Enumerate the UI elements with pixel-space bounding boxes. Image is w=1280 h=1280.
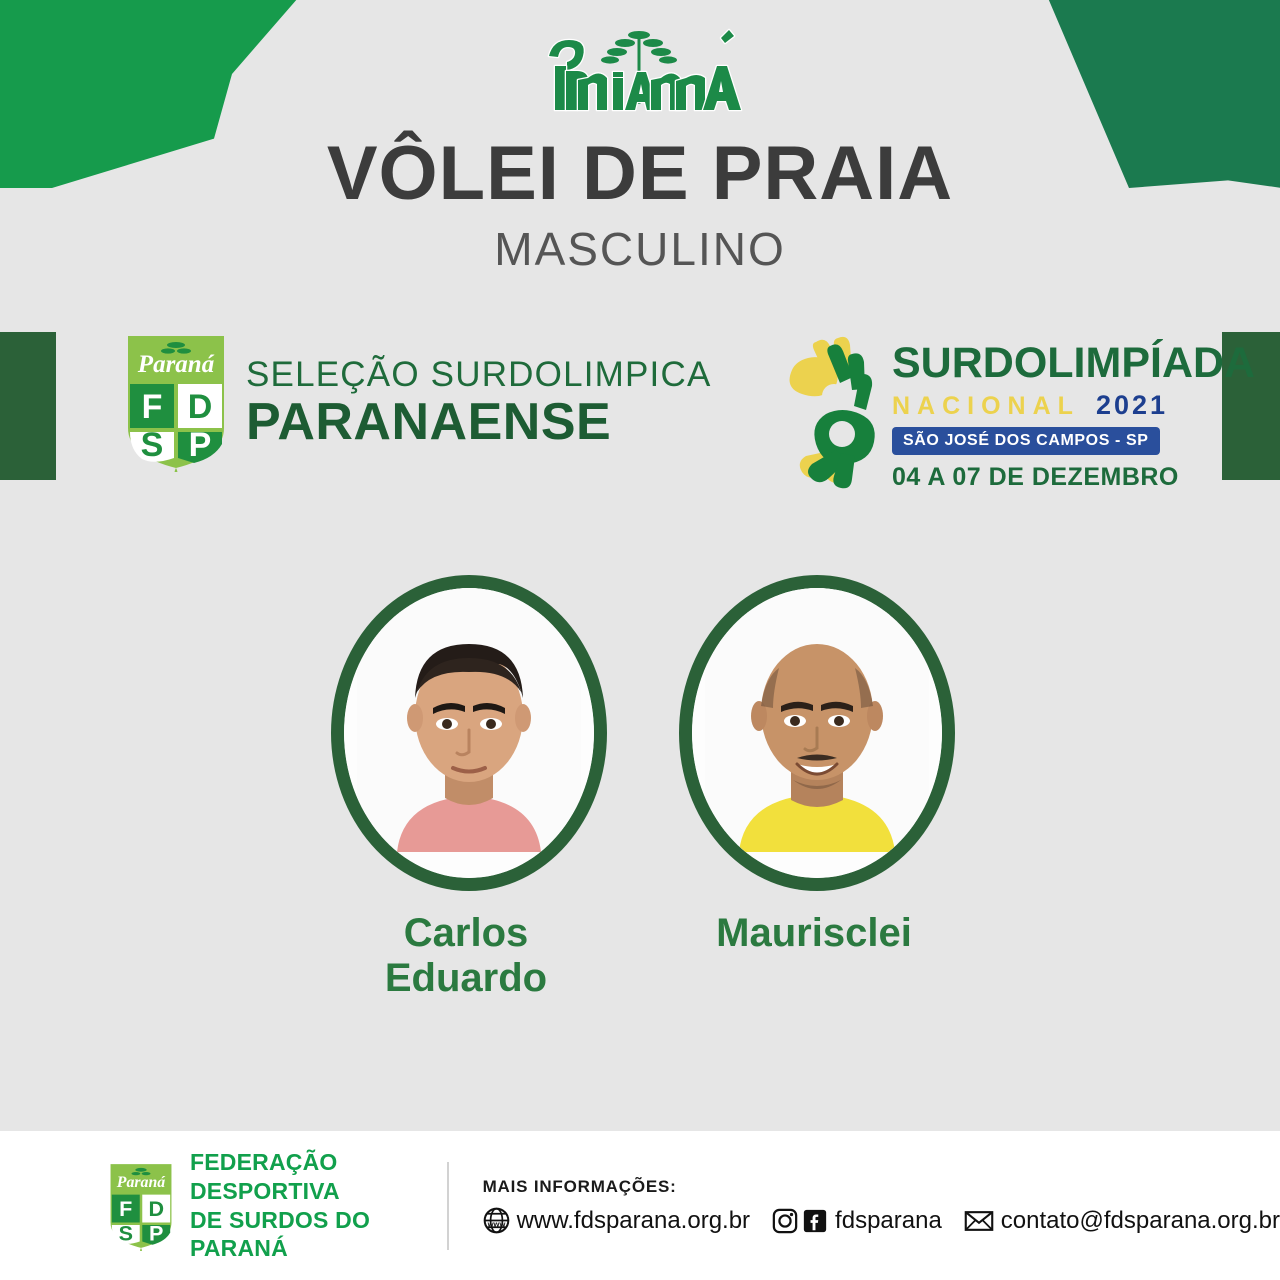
parana-logo [525, 26, 755, 118]
athlete-photo-maurisclei [679, 575, 955, 891]
instagram-icon [772, 1208, 798, 1234]
logos-row: Paraná F D S P [0, 330, 1280, 490]
selection-line-1: SELEÇÃO SURDOLIMPICA [246, 357, 712, 392]
svg-text:S: S [141, 426, 164, 464]
contact-website[interactable]: www www.fdsparana.org.br [483, 1207, 750, 1235]
event-city-badge: SÃO JOSÉ DOS CAMPOS - SP [892, 427, 1160, 455]
athlete-card: Maurisclei [679, 575, 949, 1001]
svg-text:www: www [486, 1219, 505, 1228]
svg-text:F: F [119, 1196, 132, 1221]
federation-name-line-1: FEDERAÇÃO DESPORTIVA [190, 1148, 405, 1206]
footer-divider [447, 1162, 449, 1250]
selection-logo-block: Paraná F D S P [124, 332, 712, 472]
fdsp-shield-logo-footer: Paraná F D S P [108, 1161, 174, 1251]
svg-text:F: F [142, 388, 163, 426]
svg-text:P: P [189, 426, 212, 464]
contact-social[interactable]: fdsparana [772, 1207, 942, 1235]
event-year: 2021 [1096, 390, 1168, 421]
footer-federation-block: Paraná F D S P [108, 1148, 405, 1263]
selection-line-2: PARANAENSE [246, 396, 712, 448]
sport-title: VÔLEI DE PRAIA [0, 136, 1280, 212]
social-handle: fdsparana [835, 1207, 942, 1235]
event-title: SURDOLIMPÍADA [892, 342, 1255, 385]
svg-text:S: S [119, 1220, 133, 1245]
contact-row: www www.fdsparana.org.br fdsparana [483, 1207, 1280, 1235]
federation-name: FEDERAÇÃO DESPORTIVA DE SURDOS DO PARANÁ [190, 1148, 405, 1263]
svg-text:P: P [149, 1220, 163, 1245]
fdsp-shield-logo: Paraná F D S P [124, 332, 228, 472]
more-info-label: MAIS INFORMAÇÕES: [483, 1177, 1280, 1197]
athlete-name: Carlos Eduardo [331, 911, 601, 1001]
contact-email[interactable]: contato@fdsparana.org.br [964, 1207, 1280, 1235]
globe-icon: www [483, 1207, 510, 1234]
facebook-icon [802, 1208, 828, 1234]
footer-contact-block: MAIS INFORMAÇÕES: www www.fdsparana.org.… [483, 1177, 1280, 1235]
envelope-icon [964, 1209, 994, 1233]
surdolimpiada-hands-logo [786, 330, 882, 490]
event-logo-block: SURDOLIMPÍADA NACIONAL 2021 SÃO JOSÉ DOS… [786, 330, 1255, 492]
website-text: www.fdsparana.org.br [517, 1207, 750, 1235]
event-scope: NACIONAL [892, 392, 1080, 421]
athlete-card: Carlos Eduardo [331, 575, 601, 1001]
email-text: contato@fdsparana.org.br [1001, 1207, 1280, 1235]
event-dates: 04 A 07 DE DEZEMBRO [892, 463, 1255, 492]
svg-text:Paraná: Paraná [117, 1173, 166, 1190]
poster-canvas: VÔLEI DE PRAIA MASCULINO Paraná [0, 0, 1280, 1280]
sport-category: MASCULINO [0, 222, 1280, 276]
athletes-list: Carlos Eduardo [0, 575, 1280, 1001]
svg-text:D: D [148, 1196, 164, 1221]
federation-name-line-2: DE SURDOS DO PARANÁ [190, 1206, 405, 1264]
athlete-photo-carlos-eduardo [331, 575, 607, 891]
svg-text:D: D [188, 388, 213, 426]
footer: Paraná F D S P [0, 1131, 1280, 1280]
svg-text:Paraná: Paraná [137, 351, 215, 378]
athlete-name: Maurisclei [679, 911, 949, 956]
